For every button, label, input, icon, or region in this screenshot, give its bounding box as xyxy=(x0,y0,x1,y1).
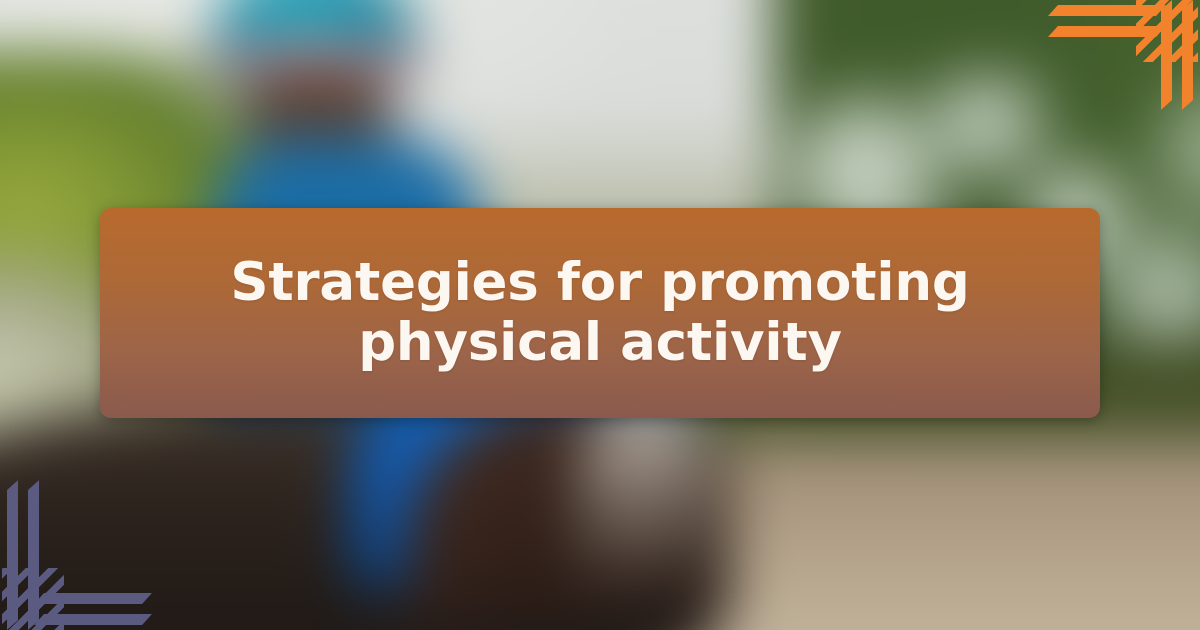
background-arena-ground xyxy=(665,439,1200,630)
social-card-canvas: Strategies for promoting physical activi… xyxy=(0,0,1200,630)
title-card: Strategies for promoting physical activi… xyxy=(100,208,1100,418)
horse-blaze xyxy=(578,398,708,603)
page-title: Strategies for promoting physical activi… xyxy=(146,253,1054,373)
